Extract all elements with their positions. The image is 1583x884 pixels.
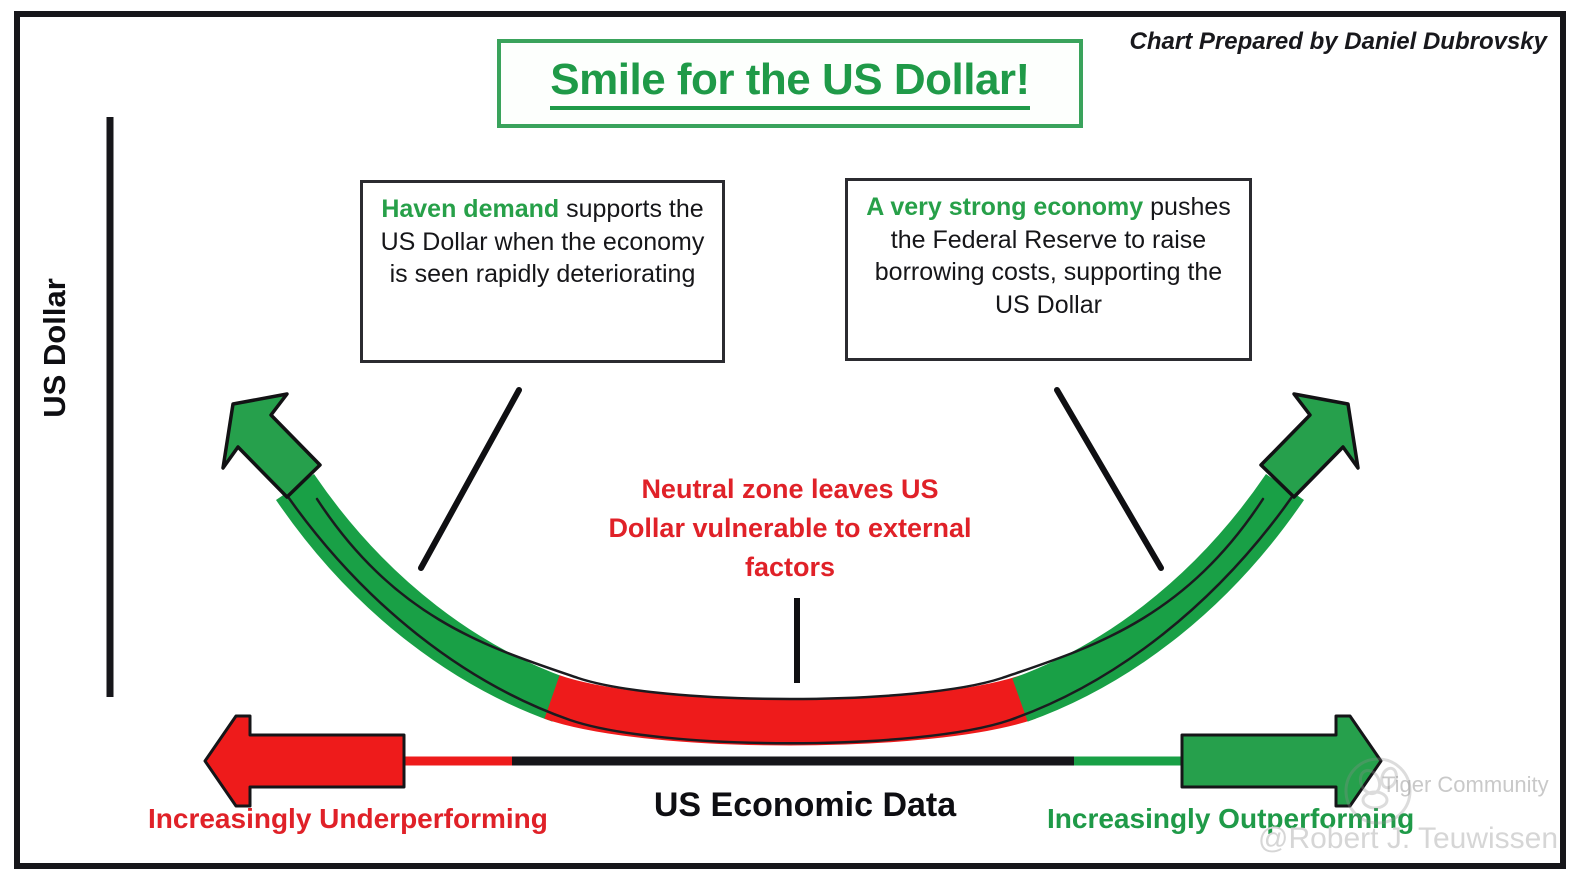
x-axis-left-label: Increasingly Underperforming xyxy=(148,803,548,835)
chart-title-box: Smile for the US Dollar! xyxy=(497,39,1083,128)
x-axis-label: US Economic Data xyxy=(585,786,1025,825)
annotation-center: Neutral zone leaves US Dollar vulnerable… xyxy=(600,470,980,587)
y-axis-label: US Dollar xyxy=(37,258,73,438)
page-title: Smile for the US Dollar! xyxy=(550,57,1029,109)
annotation-left-highlight: Haven demand xyxy=(381,195,559,223)
annotation-box-right: A very strong economy pushes the Federal… xyxy=(845,178,1252,361)
chart-frame xyxy=(14,11,1566,869)
chart-canvas: Smile for the US Dollar! Chart Prepared … xyxy=(0,0,1583,884)
x-axis-right-label: Increasingly Outperforming xyxy=(1047,803,1414,835)
chart-credit: Chart Prepared by Daniel Dubrovsky xyxy=(1130,28,1547,56)
annotation-box-left: Haven demand supports the US Dollar when… xyxy=(360,180,725,363)
annotation-right-highlight: A very strong economy xyxy=(866,193,1143,221)
